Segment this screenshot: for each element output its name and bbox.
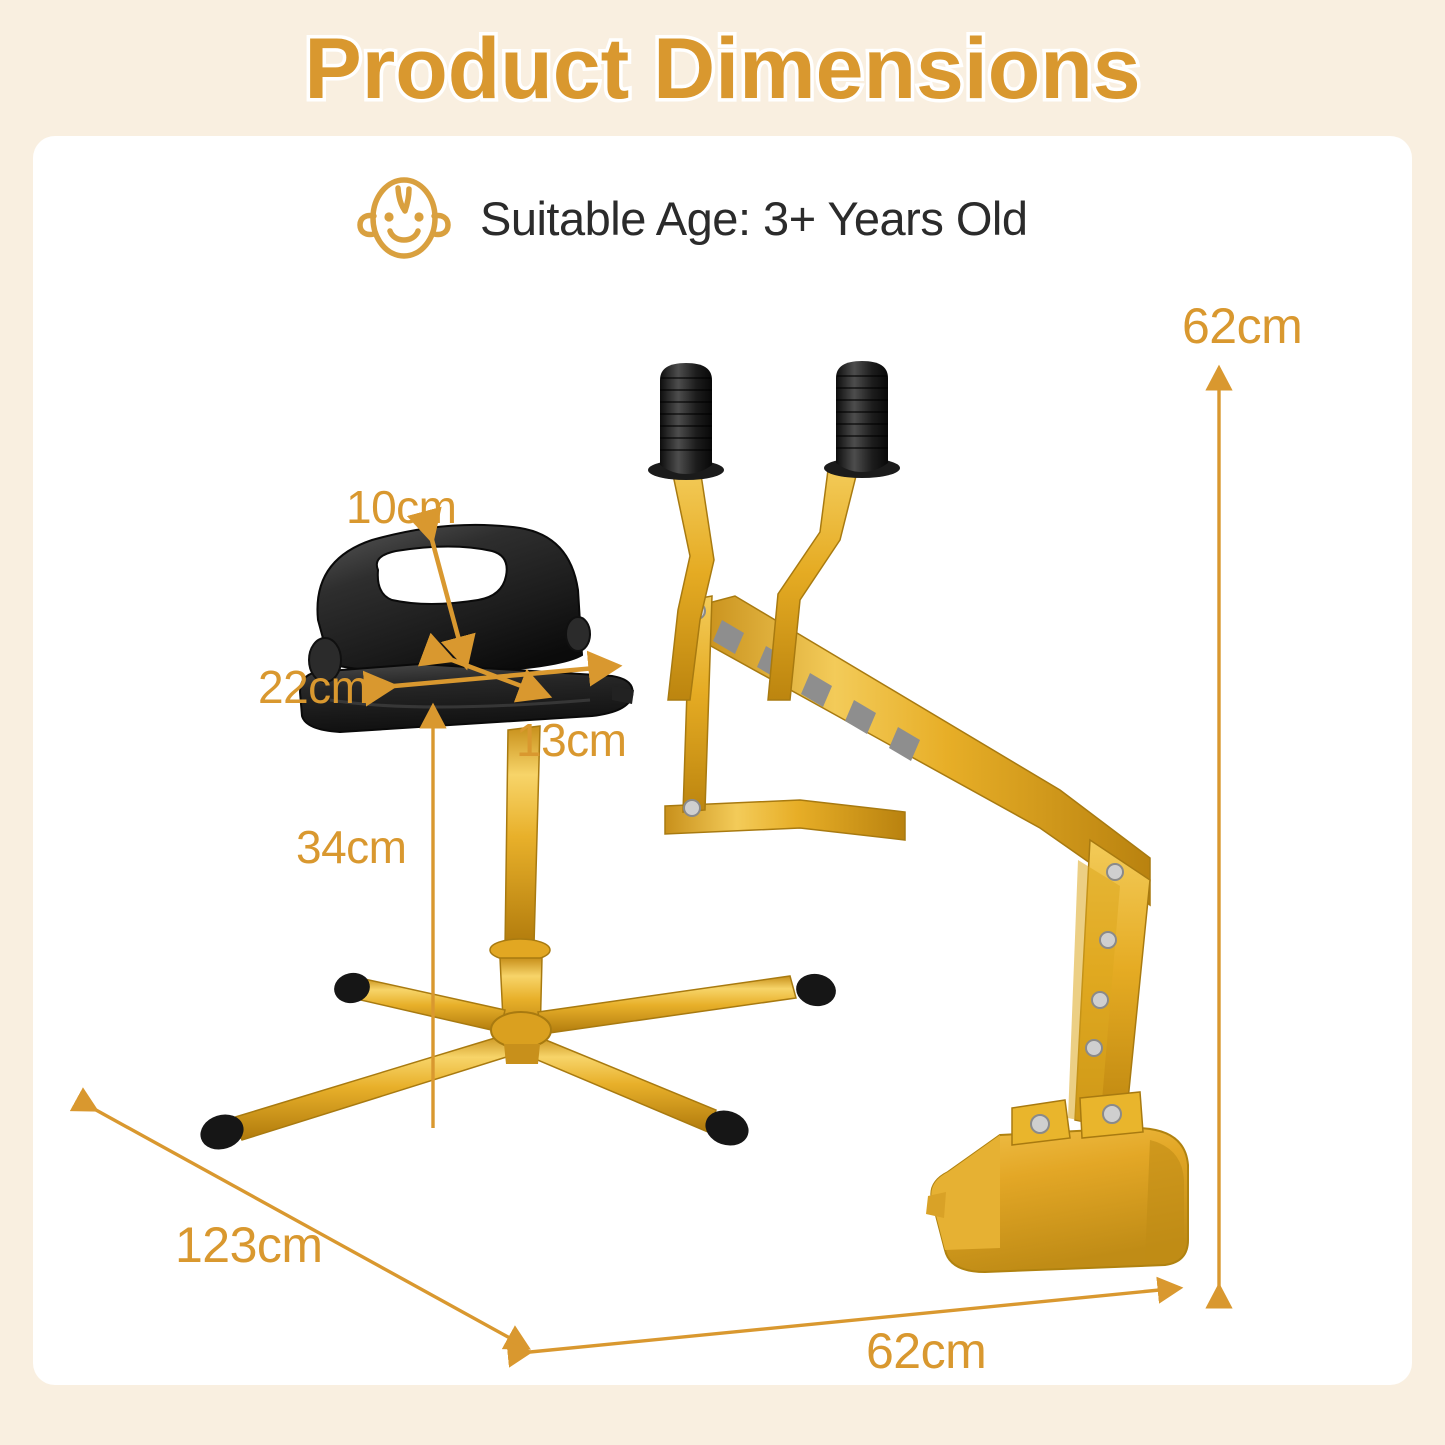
dimension-label-seat-height: 34cm [296,820,406,874]
dimension-label-backrest-height: 10cm [346,480,456,534]
dimension-label-overall-height: 62cm [1182,297,1302,355]
suitable-age-badge: Suitable Age: 3+ Years Old [352,172,1028,265]
dimension-label-seat-depth: 13cm [516,713,626,767]
suitable-age-label: Suitable Age: 3+ Years Old [480,191,1028,246]
page-title: Product Dimensions [0,24,1445,114]
dimension-label-overall-depth: 123cm [175,1216,323,1274]
dimension-label-overall-width: 62cm [866,1322,986,1380]
dimension-label-seat-width: 22cm [258,660,368,714]
baby-face-icon [352,172,456,265]
product-dimensions-infographic: Product Dimensions Suitable Age: 3+ Year… [0,0,1445,1445]
